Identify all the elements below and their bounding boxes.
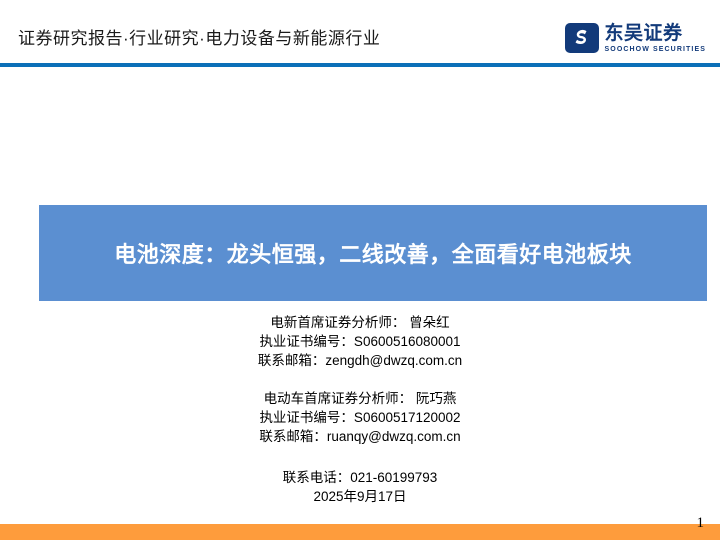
analyst-email: 联系邮箱：ruanqy@dwzq.com.cn	[0, 427, 720, 446]
header-breadcrumb-title: 证券研究报告·行业研究·电力设备与新能源行业	[18, 24, 380, 49]
company-logo: 东吴证券 SOOCHOW SECURITIES	[565, 20, 706, 56]
contact-phone: 联系电话：021-60199793	[0, 468, 720, 487]
header-divider	[0, 63, 720, 67]
logo-name-cn: 东吴证券	[605, 24, 706, 43]
analyst-entry: 电新首席证券分析师： 曾朵红 执业证书编号：S0600516080001 联系邮…	[0, 313, 720, 370]
footer-bar	[0, 524, 720, 540]
analyst-info-block: 电新首席证券分析师： 曾朵红 执业证书编号：S0600516080001 联系邮…	[0, 313, 720, 506]
analyst-email: 联系邮箱：zengdh@dwzq.com.cn	[0, 351, 720, 370]
report-date: 2025年9月17日	[0, 487, 720, 506]
soochow-swirl-icon	[565, 23, 599, 53]
analyst-entry: 电动车首席证券分析师： 阮巧燕 执业证书编号：S0600517120002 联系…	[0, 389, 720, 446]
analyst-certificate: 执业证书编号：S0600517120002	[0, 408, 720, 427]
contact-entry: 联系电话：021-60199793 2025年9月17日	[0, 468, 720, 506]
analyst-role-name: 电动车首席证券分析师： 阮巧燕	[0, 389, 720, 408]
analyst-role-name: 电新首席证券分析师： 曾朵红	[0, 313, 720, 332]
page-header: 证券研究报告·行业研究·电力设备与新能源行业 东吴证券 SOOCHOW SECU…	[0, 0, 720, 64]
report-title-banner: 电池深度：龙头恒强，二线改善，全面看好电池板块	[39, 205, 707, 301]
page-number: 1	[697, 515, 705, 532]
analyst-certificate: 执业证书编号：S0600516080001	[0, 332, 720, 351]
logo-wordmark: 东吴证券 SOOCHOW SECURITIES	[605, 24, 706, 53]
report-title: 电池深度：龙头恒强，二线改善，全面看好电池板块	[114, 237, 632, 269]
logo-name-en: SOOCHOW SECURITIES	[605, 46, 706, 53]
